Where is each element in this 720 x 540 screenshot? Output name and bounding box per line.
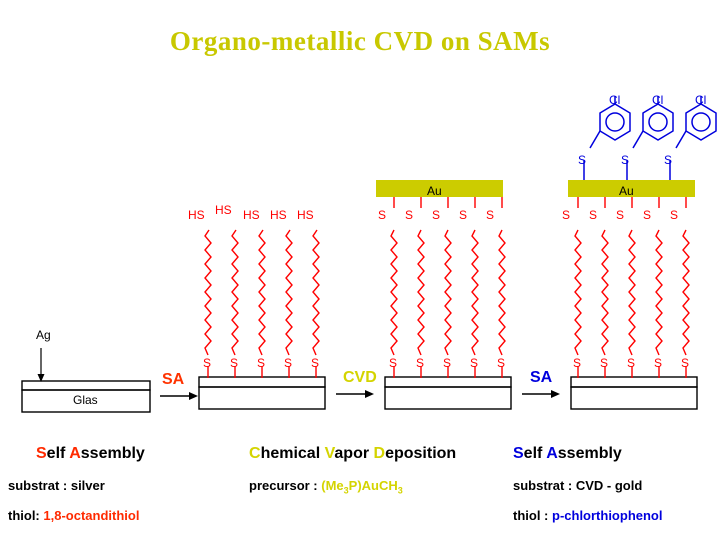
- gold-label-middle: Au: [427, 184, 442, 198]
- s-label: S: [230, 356, 238, 370]
- caption-heading-initial: A: [546, 445, 558, 462]
- s-label: S: [405, 208, 413, 222]
- caption-line-label: precursor :: [249, 478, 321, 493]
- caption-heading-text: elf: [524, 445, 547, 462]
- stage-4-alkane-chains: [575, 197, 689, 378]
- s-label: S: [378, 208, 386, 222]
- s-label: S: [486, 208, 494, 222]
- caption-heading-cvd: Chemical Vapor Deposition: [249, 445, 456, 463]
- caption-line-value: 1,8-octandithiol: [43, 508, 139, 523]
- s-label: S: [284, 356, 292, 370]
- caption-line-value: (Me3P)AuCH3: [321, 478, 403, 493]
- caption-heading-initial: C: [249, 445, 261, 462]
- caption-heading-initial: S: [36, 445, 47, 462]
- cl-label: Cl: [695, 93, 706, 107]
- s-label: S: [443, 356, 451, 370]
- step-label-sa-2: SA: [530, 369, 552, 387]
- s-label-aromatic: S: [578, 153, 586, 167]
- caption-line-substrate-1: substrat : silver: [8, 478, 105, 493]
- s-label: S: [600, 356, 608, 370]
- stage-3-substrate: [385, 377, 511, 409]
- caption-heading-self-assembly-2: Self Assembly: [513, 445, 622, 463]
- caption-line-label: thiol:: [8, 508, 43, 523]
- caption-line-label: substrat :: [8, 478, 71, 493]
- caption-heading-initial: A: [69, 445, 81, 462]
- s-label: S: [257, 356, 265, 370]
- step-arrow-1: [160, 392, 198, 400]
- diagram-canvas: Organo-metallic CVD on SAMs: [0, 0, 720, 540]
- s-label: S: [203, 356, 211, 370]
- hs-label: HS: [270, 208, 287, 222]
- caption-heading-initial: V: [325, 445, 335, 462]
- s-label: S: [416, 356, 424, 370]
- chlorthiophenol-molecule-3: [670, 96, 716, 180]
- caption-heading-self-assembly-1: Self Assembly: [36, 445, 145, 463]
- s-label-aromatic: S: [621, 153, 629, 167]
- caption-heading-text: hemical: [261, 445, 325, 462]
- s-label: S: [389, 356, 397, 370]
- caption-line-value: CVD - gold: [576, 478, 642, 493]
- caption-heading-text: elf: [47, 445, 70, 462]
- step-label-cvd: CVD: [343, 369, 377, 387]
- hs-label: HS: [243, 208, 260, 222]
- step-arrow-3: [522, 390, 560, 398]
- cl-label: Cl: [652, 93, 663, 107]
- s-label: S: [654, 356, 662, 370]
- s-label: S: [681, 356, 689, 370]
- hs-label: HS: [297, 208, 314, 222]
- s-label: S: [497, 356, 505, 370]
- caption-line-value: silver: [71, 478, 105, 493]
- caption-heading-initial: S: [513, 445, 524, 462]
- stage-2-substrate: [199, 377, 325, 409]
- caption-heading-text: ssembly: [81, 445, 145, 462]
- chlorthiophenol-molecule-1: [584, 96, 630, 180]
- gold-label-right: Au: [619, 184, 634, 198]
- stage-4-substrate: [571, 377, 697, 409]
- caption-heading-initial: D: [374, 445, 386, 462]
- s-label: S: [643, 208, 651, 222]
- s-label: S: [470, 356, 478, 370]
- caption-line-thiol-1: thiol: 1,8-octandithiol: [8, 508, 139, 523]
- s-label-aromatic: S: [664, 153, 672, 167]
- s-label: S: [573, 356, 581, 370]
- s-label: S: [670, 208, 678, 222]
- step-label-sa-1: SA: [162, 371, 184, 389]
- s-label: S: [589, 208, 597, 222]
- caption-line-label: substrat :: [513, 478, 576, 493]
- silver-label: Ag: [36, 328, 51, 342]
- s-label: S: [616, 208, 624, 222]
- s-label: S: [627, 356, 635, 370]
- caption-heading-text: eposition: [385, 445, 456, 462]
- caption-line-value: p-chlorthiophenol: [552, 508, 662, 523]
- caption-line-substrate-2: substrat : CVD - gold: [513, 478, 642, 493]
- stage-3-alkane-chains: [391, 197, 505, 378]
- chlorthiophenol-molecule-2: [627, 96, 673, 180]
- caption-heading-text: ssembly: [558, 445, 622, 462]
- glass-label: Glas: [73, 393, 98, 407]
- caption-line-thiol-2: thiol : p-chlorthiophenol: [513, 508, 662, 523]
- caption-line-precursor: precursor : (Me3P)AuCH3: [249, 478, 403, 496]
- cl-label: Cl: [609, 93, 620, 107]
- hs-label: HS: [215, 203, 232, 217]
- hs-label: HS: [188, 208, 205, 222]
- caption-line-label: thiol :: [513, 508, 552, 523]
- s-label: S: [432, 208, 440, 222]
- s-label: S: [311, 356, 319, 370]
- step-arrow-2: [336, 390, 374, 398]
- s-label: S: [562, 208, 570, 222]
- caption-heading-text: apor: [334, 445, 373, 462]
- s-label: S: [459, 208, 467, 222]
